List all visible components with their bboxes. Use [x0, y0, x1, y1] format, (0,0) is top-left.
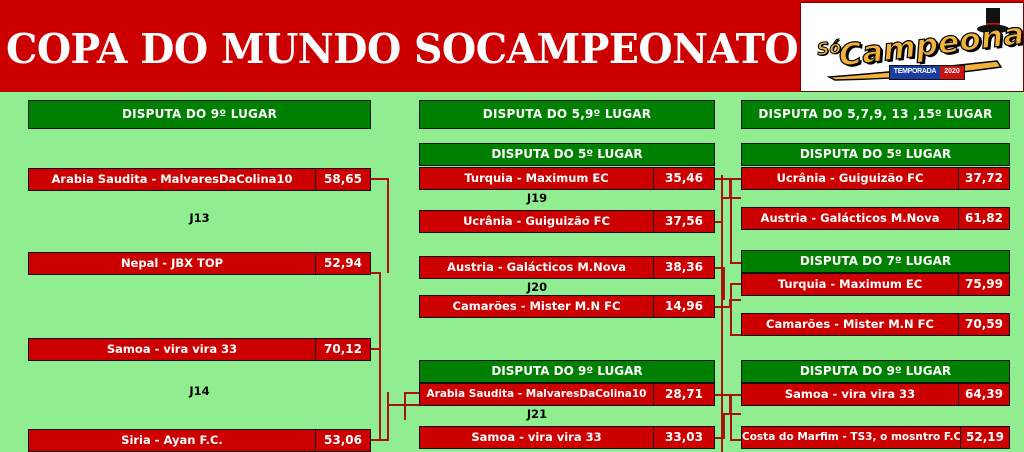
- match-team: Costa do Marfim - TS3, o mosntro F.C: [742, 427, 960, 448]
- brand-logo: Só Campeonatos TEMPORADA 2020: [800, 2, 1024, 92]
- match-row[interactable]: Ucrânia - Guiguizão FC 37,72: [741, 167, 1010, 190]
- match-team: Austria - Galácticos M.Nova: [742, 208, 958, 229]
- match-score: 52,94: [315, 253, 370, 274]
- season-year: 2020: [940, 66, 964, 79]
- match-team: Camarões - Mister M.N FC: [742, 314, 958, 335]
- match-team: Arabia Saudita - MalvaresDaColina10: [420, 384, 653, 405]
- match-score: 37,56: [653, 211, 714, 232]
- group-sub-header: DISPUTA DO 5º LUGAR: [741, 143, 1010, 166]
- match-score: 61,82: [958, 208, 1009, 229]
- match-score: 38,36: [653, 257, 714, 278]
- match-team: Samoa - vira vira 33: [420, 427, 653, 448]
- group-sub-header: DISPUTA DO 9º LUGAR: [419, 360, 715, 383]
- column-header-middle: DISPUTA DO 5,9º LUGAR: [419, 100, 715, 129]
- match-row[interactable]: Turquia - Maximum EC 35,46: [419, 167, 715, 190]
- game-id-label: J20: [419, 280, 655, 294]
- match-row[interactable]: Costa do Marfim - TS3, o mosntro F.C 52,…: [741, 426, 1010, 449]
- match-score: 37,72: [958, 168, 1009, 189]
- match-score: 64,39: [958, 384, 1009, 405]
- match-team: Camarões - Mister M.N FC: [420, 296, 653, 317]
- match-row[interactable]: Samoa - vira vira 33 33,03: [419, 426, 715, 449]
- match-team: Samoa - vira vira 33: [742, 384, 958, 405]
- group-sub-header: DISPUTA DO 9º LUGAR: [741, 360, 1010, 383]
- game-id-label: J19: [419, 191, 655, 205]
- group-sub-header: DISPUTA DO 5º LUGAR: [419, 143, 715, 166]
- game-id-label: J14: [28, 384, 371, 398]
- match-row[interactable]: Camarões - Mister M.N FC 14,96: [419, 295, 715, 318]
- match-row[interactable]: Arabia Saudita - MalvaresDaColina10 28,7…: [419, 383, 715, 406]
- match-row[interactable]: Samoa - vira vira 33 70,12: [28, 338, 371, 361]
- match-row[interactable]: Austria - Galácticos M.Nova 61,82: [741, 207, 1010, 230]
- match-row[interactable]: Ucrânia - Guiguizão FC 37,56: [419, 210, 715, 233]
- game-id-label: J21: [419, 407, 655, 421]
- tournament-bracket-page: COPA DO MUNDO SOCAMPEONATOS 2020 Só Camp…: [0, 0, 1024, 452]
- match-row[interactable]: Turquia - Maximum EC 75,99: [741, 273, 1010, 296]
- match-score: 58,65: [315, 169, 370, 190]
- match-team: Turquia - Maximum EC: [420, 168, 653, 189]
- match-team: Siria - Ayan F.C.: [29, 430, 315, 451]
- match-score: 75,99: [958, 274, 1009, 295]
- match-score: 14,96: [653, 296, 714, 317]
- column-header-right: DISPUTA DO 5,7,9, 13 ,15º LUGAR: [741, 100, 1010, 129]
- match-team: Arabia Saudita - MalvaresDaColina10: [29, 169, 315, 190]
- match-score: 70,59: [958, 314, 1009, 335]
- match-row[interactable]: Nepal - JBX TOP 52,94: [28, 252, 371, 275]
- match-score: 52,19: [960, 427, 1009, 448]
- match-score: 33,03: [653, 427, 714, 448]
- season-label: TEMPORADA: [890, 66, 940, 79]
- match-team: Austria - Galácticos M.Nova: [420, 257, 653, 278]
- match-row[interactable]: Camarões - Mister M.N FC 70,59: [741, 313, 1010, 336]
- match-score: 28,71: [653, 384, 714, 405]
- match-row[interactable]: Siria - Ayan F.C. 53,06: [28, 429, 371, 452]
- match-score: 53,06: [315, 430, 370, 451]
- match-team: Ucrânia - Guiguizão FC: [420, 211, 653, 232]
- match-team: Samoa - vira vira 33: [29, 339, 315, 360]
- game-id-label: J13: [28, 211, 371, 225]
- match-row[interactable]: Austria - Galácticos M.Nova 38,36: [419, 256, 715, 279]
- season-badge: TEMPORADA 2020: [889, 65, 965, 80]
- match-row[interactable]: Arabia Saudita - MalvaresDaColina10 58,6…: [28, 168, 371, 191]
- group-sub-header: DISPUTA DO 7º LUGAR: [741, 250, 1010, 273]
- match-team: Nepal - JBX TOP: [29, 253, 315, 274]
- match-team: Turquia - Maximum EC: [742, 274, 958, 295]
- match-score: 70,12: [315, 339, 370, 360]
- match-score: 35,46: [653, 168, 714, 189]
- page-title: COPA DO MUNDO SOCAMPEONATOS 2020: [6, 20, 764, 78]
- match-row[interactable]: Samoa - vira vira 33 64,39: [741, 383, 1010, 406]
- column-header-left: DISPUTA DO 9º LUGAR: [28, 100, 371, 129]
- match-team: Ucrânia - Guiguizão FC: [742, 168, 958, 189]
